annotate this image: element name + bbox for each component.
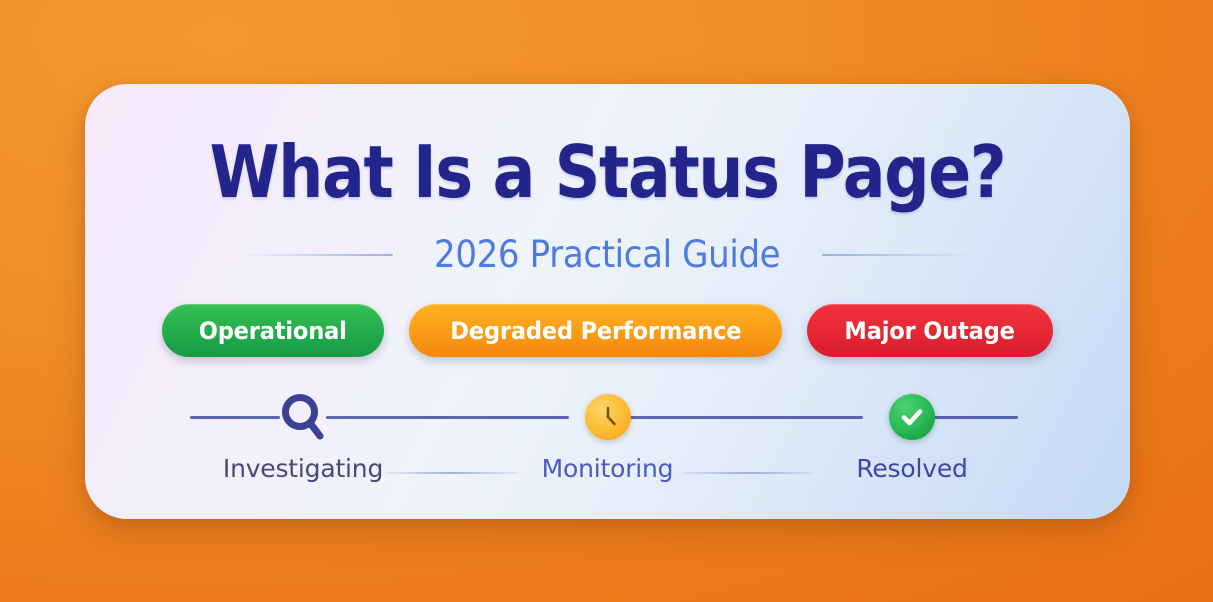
timeline-step-label: Resolved	[856, 454, 967, 483]
timeline-step-monitoring[interactable]: Monitoring	[513, 384, 703, 483]
timeline-step-investigating[interactable]: Investigating	[208, 384, 398, 483]
timeline-step-label: Investigating	[223, 454, 383, 483]
status-badge-label: Operational	[199, 317, 347, 345]
timeline-steps: Investigating Monitoring	[190, 384, 1025, 494]
check-circle-icon	[889, 394, 935, 440]
clock-icon	[585, 394, 631, 440]
title-block: What Is a Status Page?	[85, 136, 1130, 208]
status-badge-operational[interactable]: Operational	[162, 304, 383, 357]
status-badge-major-outage[interactable]: Major Outage	[807, 304, 1052, 357]
timeline-step-resolved[interactable]: Resolved	[817, 384, 1007, 483]
subtitle-rule-right	[822, 254, 974, 256]
clock-icon-wrapper	[585, 384, 631, 450]
magnifying-glass-icon	[278, 384, 328, 450]
status-page-card: What Is a Status Page? 2026 Practical Gu…	[85, 84, 1130, 519]
subtitle-rule-left	[241, 254, 393, 256]
status-badge-label: Major Outage	[845, 317, 1015, 345]
poster-canvas: What Is a Status Page? 2026 Practical Gu…	[0, 0, 1213, 602]
timeline-step-label: Monitoring	[542, 454, 674, 483]
incident-timeline: Investigating Monitoring	[190, 384, 1025, 494]
check-circle-icon-wrapper	[889, 384, 935, 450]
status-badge-label: Degraded Performance	[450, 317, 741, 345]
status-badge-group: Operational Degraded Performance Major O…	[85, 304, 1130, 357]
status-badge-degraded-performance[interactable]: Degraded Performance	[409, 304, 783, 357]
page-title: What Is a Status Page?	[148, 136, 1068, 208]
subtitle-row: 2026 Practical Guide	[85, 236, 1130, 273]
page-subtitle: 2026 Practical Guide	[434, 236, 780, 273]
